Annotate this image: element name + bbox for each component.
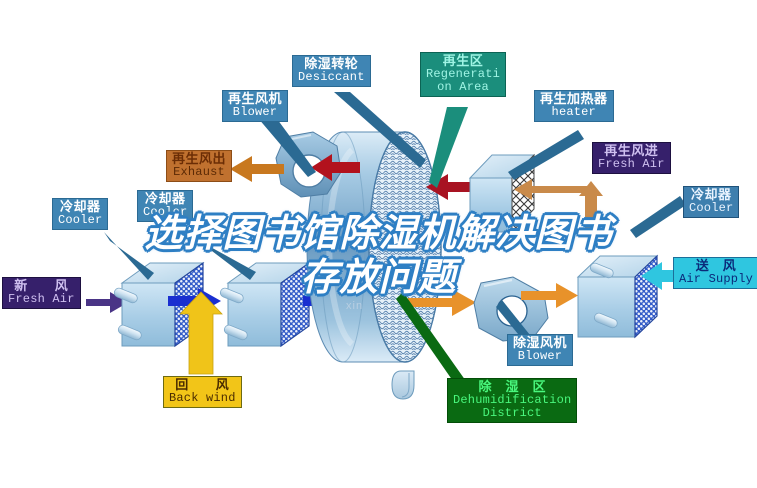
label-desiccant-rotor-cn: 除湿转轮 <box>298 57 365 71</box>
diagram-canvas: 除湿转轮 Desiccant 再生风机 Blower 再生风出 Exhaust … <box>0 0 757 488</box>
label-regeneration-blower[interactable]: 再生风机 Blower <box>222 90 288 122</box>
label-regeneration-area-en-2: on Area <box>426 81 500 94</box>
label-regeneration-blower-en: Blower <box>228 106 282 119</box>
label-dehumidification-district-en-2: District <box>453 407 571 420</box>
label-cooler-left-b-cn: 冷却器 <box>143 192 187 206</box>
label-back-wind[interactable]: 回 风 Back wind <box>163 376 242 408</box>
label-fresh-air-in-en: Fresh Air <box>8 293 75 306</box>
label-fresh-air-in-cn: 新 风 <box>8 279 75 293</box>
label-cooler-left-a[interactable]: 冷却器 Cooler <box>52 198 108 230</box>
equipment-dehumidification-blower <box>474 277 548 341</box>
label-dehumidification-blower[interactable]: 除湿风机 Blower <box>507 334 573 366</box>
label-cooler-right-cn: 冷却器 <box>689 188 733 202</box>
label-cooler-right-en: Cooler <box>689 202 733 215</box>
label-air-supply-en: Air Supply <box>679 273 753 286</box>
label-regeneration-heater[interactable]: 再生加热器 heater <box>534 90 614 122</box>
label-fresh-air-in[interactable]: 新 风 Fresh Air <box>2 277 81 309</box>
label-dehumidification-blower-cn: 除湿风机 <box>513 336 567 350</box>
condensate-drain <box>392 371 414 399</box>
label-desiccant-rotor-en: Desiccant <box>298 71 365 84</box>
label-cooler-right[interactable]: 冷却器 Cooler <box>683 186 739 218</box>
label-dehumidification-district[interactable]: 除 湿 区 Dehumidification District <box>447 378 577 423</box>
label-regeneration-fresh-air-en: Fresh Air <box>598 158 665 171</box>
label-back-wind-en: Back wind <box>169 392 236 405</box>
label-back-wind-cn: 回 风 <box>169 378 236 392</box>
label-regeneration-area[interactable]: 再生区 Regenerati on Area <box>420 52 506 97</box>
label-regeneration-area-cn: 再生区 <box>426 54 500 68</box>
label-exhaust-en: Exhaust <box>172 166 226 179</box>
label-cooler-left-a-en: Cooler <box>58 214 102 227</box>
label-desiccant-rotor[interactable]: 除湿转轮 Desiccant <box>292 55 371 87</box>
label-dehumidification-district-cn: 除 湿 区 <box>453 380 571 394</box>
label-regeneration-fresh-air-cn: 再生风进 <box>598 144 665 158</box>
equipment-cooler-3 <box>578 256 657 337</box>
label-regeneration-heater-cn: 再生加热器 <box>540 92 608 106</box>
equipment-cooler-2 <box>219 263 309 346</box>
label-cooler-left-a-cn: 冷却器 <box>58 200 102 214</box>
label-exhaust[interactable]: 再生风出 Exhaust <box>166 150 232 182</box>
rotor-watermark: xin <box>346 300 363 312</box>
label-dehumidification-blower-en: Blower <box>513 350 567 363</box>
label-regeneration-heater-en: heater <box>540 106 608 119</box>
label-cooler-left-b[interactable]: 冷却器 Cooler <box>137 190 193 222</box>
label-air-supply-cn: 送 风 <box>679 259 753 273</box>
dehumidifier-schematic-illustration <box>0 0 757 488</box>
label-regeneration-blower-cn: 再生风机 <box>228 92 282 106</box>
label-regeneration-fresh-air[interactable]: 再生风进 Fresh Air <box>592 142 671 174</box>
label-cooler-left-b-en: Cooler <box>143 206 187 219</box>
label-exhaust-cn: 再生风出 <box>172 152 226 166</box>
label-air-supply[interactable]: 送 风 Air Supply <box>673 257 757 289</box>
